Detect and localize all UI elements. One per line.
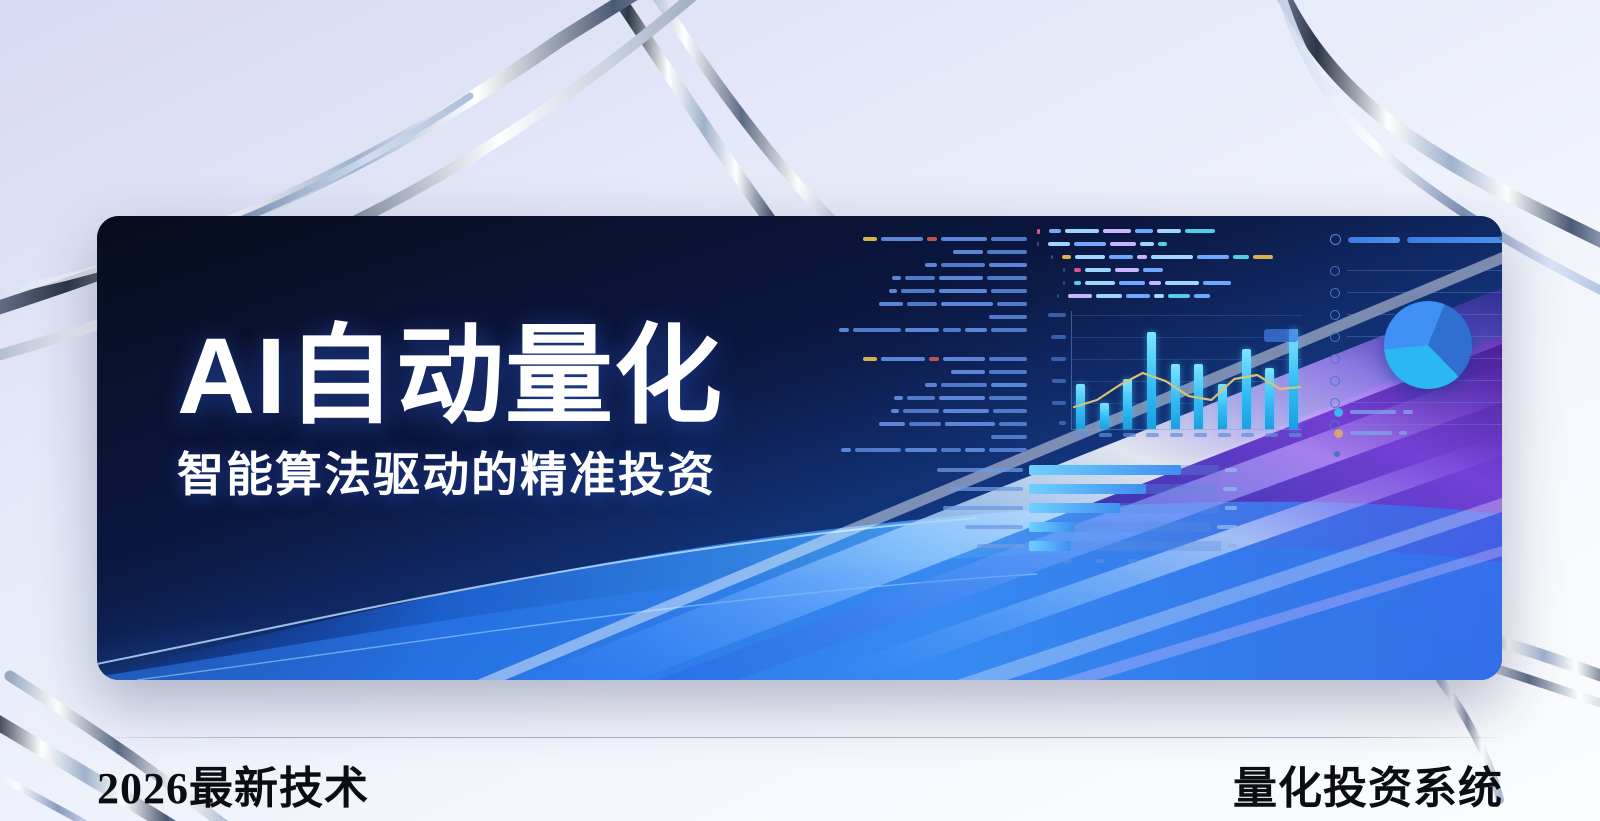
code-panel (1037, 226, 1292, 304)
circle-bullet-icon (1330, 288, 1340, 298)
legend-item (1334, 427, 1413, 439)
main-title: AI自动量化 (177, 321, 723, 431)
log-line (837, 445, 1027, 454)
log-line (837, 247, 1027, 256)
bar-chart-y-axis (1037, 311, 1069, 429)
chart-tooltip (1264, 329, 1298, 342)
rank-axis-tick (1095, 559, 1104, 563)
circle-icon (1330, 234, 1341, 245)
legend-item (1334, 448, 1413, 460)
caption-left: 2026最新技术 (97, 752, 369, 816)
pie-panel-controls[interactable] (1499, 236, 1502, 240)
circle-bullet-icon (1330, 332, 1340, 342)
x-tick-label (1146, 433, 1159, 437)
y-tick-label (1048, 313, 1066, 317)
log-line (837, 354, 1027, 363)
control-dash-icon[interactable] (1499, 236, 1502, 240)
y-tick-label (1059, 421, 1066, 425)
x-tick-label (1170, 433, 1183, 437)
x-tick-label (1194, 433, 1207, 437)
bar-chart-plot-area (1071, 311, 1302, 430)
legend-dot-icon (1334, 429, 1343, 438)
rank-axis-tick (1029, 559, 1038, 563)
code-bullet-icon (1037, 229, 1040, 234)
y-tick-label (1052, 401, 1066, 405)
log-line (837, 432, 1027, 441)
rank-row (937, 540, 1237, 552)
hero-panel: AI自动量化 智能算法驱动的精准投资 (97, 216, 1502, 680)
dashboard-graphic (832, 216, 1502, 680)
log-line (837, 419, 1027, 428)
x-tick-label (1075, 433, 1088, 437)
bottom-divider (90, 737, 1502, 738)
x-tick-label (1241, 433, 1254, 437)
bar-chart (1037, 311, 1302, 451)
x-tick-label (1218, 433, 1231, 437)
rank-row (937, 464, 1237, 476)
code-line (1037, 226, 1292, 236)
side-list-item[interactable] (1330, 264, 1502, 277)
bar-chart-x-axis (1075, 433, 1302, 437)
title-block: AI自动量化 智能算法驱动的精准投资 (177, 321, 723, 501)
log-line (837, 312, 1027, 321)
code-line (1037, 239, 1292, 249)
circle-bullet-icon (1330, 310, 1340, 320)
rank-axis (1029, 559, 1237, 563)
log-line (837, 286, 1027, 295)
log-panel (837, 234, 1027, 474)
log-line (837, 260, 1027, 269)
caption-right: 量化投资系统 (1233, 752, 1503, 816)
code-line (1037, 291, 1292, 301)
pie-legend (1334, 406, 1413, 469)
log-line (837, 273, 1027, 282)
code-line (1037, 265, 1292, 275)
y-tick-label (1051, 335, 1066, 339)
circle-bullet-icon (1330, 266, 1340, 276)
rank-axis-tick (1062, 559, 1071, 563)
code-line (1037, 252, 1292, 262)
pie-chart (1384, 301, 1472, 389)
legend-dot-icon (1334, 408, 1343, 417)
rank-axis-tick (1128, 559, 1137, 563)
code-line (1037, 278, 1292, 288)
rank-row (937, 521, 1237, 533)
log-line (837, 406, 1027, 415)
log-block (837, 354, 1027, 454)
legend-item (1334, 406, 1413, 418)
x-tick-label (1123, 433, 1136, 437)
circle-bullet-icon (1330, 376, 1340, 386)
log-line (837, 299, 1027, 308)
x-tick-label (1289, 433, 1302, 437)
legend-dot-icon (1334, 451, 1340, 457)
side-list-item[interactable] (1330, 286, 1502, 299)
log-line (837, 380, 1027, 389)
y-tick-label (1052, 379, 1066, 383)
sub-title: 智能算法驱动的精准投资 (177, 449, 723, 501)
log-block (837, 234, 1027, 334)
log-line (837, 367, 1027, 376)
circle-bullet-icon (1330, 354, 1340, 364)
pie-panel (1312, 216, 1502, 476)
log-line (837, 234, 1027, 243)
x-tick-label (1265, 433, 1278, 437)
log-line (837, 325, 1027, 334)
rank-row (937, 502, 1237, 514)
rank-row (937, 483, 1237, 495)
rank-bar-chart (937, 464, 1237, 563)
x-tick-label (1099, 433, 1112, 437)
log-line (837, 393, 1027, 402)
y-tick-label (1051, 357, 1066, 361)
pie-panel-header (1330, 234, 1502, 245)
